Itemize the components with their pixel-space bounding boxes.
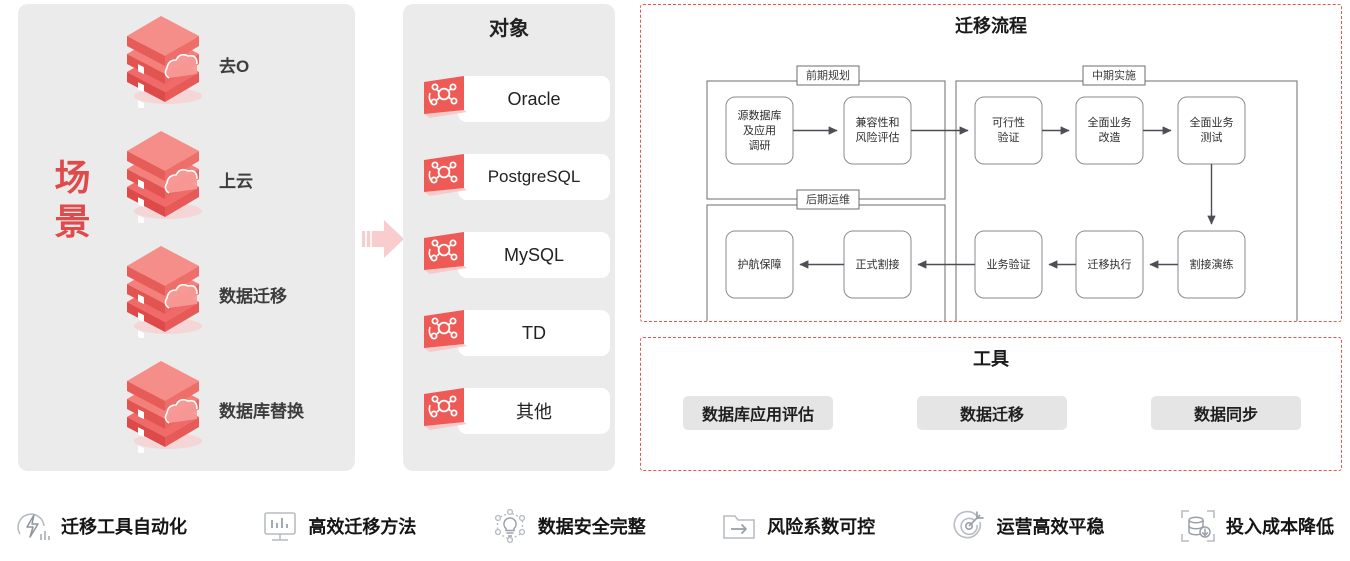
feature-5[interactable]: 投入成本降低 (1179, 507, 1334, 545)
object-chip-label: Oracle (458, 76, 610, 122)
flow-node-n3-line0: 可行性 (992, 115, 1025, 129)
feature-4[interactable]: 运营高效平稳 (950, 507, 1105, 545)
flow-node-n2-line1: 风险评估 (856, 130, 900, 144)
server-cloud-icon (113, 131, 213, 228)
monitor-chart-icon (261, 507, 299, 545)
scenario-item-2[interactable]: 数据迁移 (113, 244, 353, 344)
flow-node-n4-line0: 全面业务 (1088, 115, 1132, 129)
infographic-root: 场景 (0, 0, 1350, 561)
flow-node-n6-line0: 割接演练 (1190, 257, 1234, 271)
flow-node-n4[interactable] (1076, 97, 1143, 164)
object-item-4[interactable]: 其他 (420, 388, 610, 434)
lightbulb-network-icon (491, 507, 529, 545)
speed-lightning-icon (14, 507, 52, 545)
scenario-item-3[interactable]: 数据库替换 (113, 359, 353, 459)
scenario-item-1[interactable]: 上云 (113, 129, 353, 229)
object-chip-label: MySQL (458, 232, 610, 278)
feature-1[interactable]: 高效迁移方法 (261, 507, 416, 545)
flow-node-n10-line0: 护航保障 (738, 257, 782, 271)
flow-group-tag-0: 前期规划 (806, 68, 850, 82)
object-panel: 对象 Oracle (403, 4, 615, 471)
feature-0[interactable]: 迁移工具自动化 (14, 507, 187, 545)
server-cloud-icon (113, 361, 213, 458)
object-chip-label: PostgreSQL (458, 154, 610, 200)
feature-2[interactable]: 数据安全完整 (491, 507, 646, 545)
migration-flow-panel: 迁移流程 前期规划 中期实施 后期运维 源数据库 及应用 调研 (640, 4, 1342, 322)
feature-5-label: 投入成本降低 (1226, 513, 1334, 539)
flow-node-n2-line0: 兼容性和 (856, 115, 900, 129)
flow-node-n1-line0: 源数据库 (738, 108, 782, 122)
migration-flow-diagram: 前期规划 中期实施 后期运维 源数据库 及应用 调研 兼容性和 风险评估 可行性… (641, 35, 1343, 321)
flow-node-n2[interactable] (844, 97, 911, 164)
database-node-icon (420, 308, 472, 358)
scenario-panel: 场景 (18, 4, 355, 471)
server-cloud-icon (113, 16, 213, 113)
object-item-1[interactable]: PostgreSQL (420, 154, 610, 200)
tool-chip-1[interactable]: 数据迁移 (917, 396, 1067, 430)
tool-chip-0[interactable]: 数据库应用评估 (683, 396, 833, 430)
tools-list: 数据库应用评估 数据迁移 数据同步 (641, 396, 1343, 430)
database-node-icon (420, 386, 472, 436)
object-panel-title: 对象 (403, 12, 615, 41)
server-cloud-icon (113, 246, 213, 343)
scenario-item-label: 上云 (219, 167, 253, 192)
tool-chip-2[interactable]: 数据同步 (1151, 396, 1301, 430)
feature-3-label: 风险系数可控 (767, 513, 875, 539)
feature-bar: 迁移工具自动化 高效迁移方法 (0, 495, 1350, 557)
flow-node-n9-line0: 正式割接 (856, 257, 900, 271)
feature-1-label: 高效迁移方法 (308, 513, 416, 539)
feature-0-label: 迁移工具自动化 (61, 513, 187, 539)
scenario-title: 场景 (38, 156, 108, 244)
tools-panel: 工具 数据库应用评估 数据迁移 数据同步 (640, 337, 1342, 471)
folder-arrow-icon (720, 507, 758, 545)
scenario-item-label: 数据迁移 (219, 282, 287, 307)
tools-title: 工具 (641, 345, 1341, 371)
scenario-item-0[interactable]: 去O (113, 14, 353, 114)
object-item-0[interactable]: Oracle (420, 76, 610, 122)
target-dart-icon (950, 507, 988, 545)
feature-3[interactable]: 风险系数可控 (720, 507, 875, 545)
flow-group-tag-1: 中期实施 (1092, 68, 1136, 82)
flow-node-n1-line2: 调研 (749, 139, 771, 152)
flow-group-tag-2: 后期运维 (806, 193, 850, 206)
database-node-icon (420, 74, 472, 124)
object-item-3[interactable]: TD (420, 310, 610, 356)
object-item-2[interactable]: MySQL (420, 232, 610, 278)
flow-node-n1-line1: 及应用 (743, 123, 776, 137)
flow-node-n5[interactable] (1178, 97, 1245, 164)
flow-node-n5-line0: 全面业务 (1190, 115, 1234, 129)
flow-node-n8-line0: 业务验证 (987, 257, 1031, 271)
feature-2-label: 数据安全完整 (538, 513, 646, 539)
feature-4-label: 运营高效平稳 (997, 513, 1105, 539)
flow-node-n5-line1: 测试 (1201, 131, 1223, 144)
scenario-item-label: 数据库替换 (219, 397, 304, 422)
flow-node-n4-line1: 改造 (1099, 130, 1121, 144)
flow-node-n3-line1: 验证 (998, 130, 1020, 144)
database-node-icon (420, 152, 472, 202)
database-download-icon (1179, 507, 1217, 545)
object-chip-label: 其他 (458, 388, 610, 434)
flow-node-n7-line0: 迁移执行 (1088, 257, 1132, 271)
scenario-item-label: 去O (219, 52, 249, 77)
object-chip-label: TD (458, 310, 610, 356)
flow-node-n3[interactable] (975, 97, 1042, 164)
right-arrow-icon (360, 215, 406, 263)
database-node-icon (420, 230, 472, 280)
